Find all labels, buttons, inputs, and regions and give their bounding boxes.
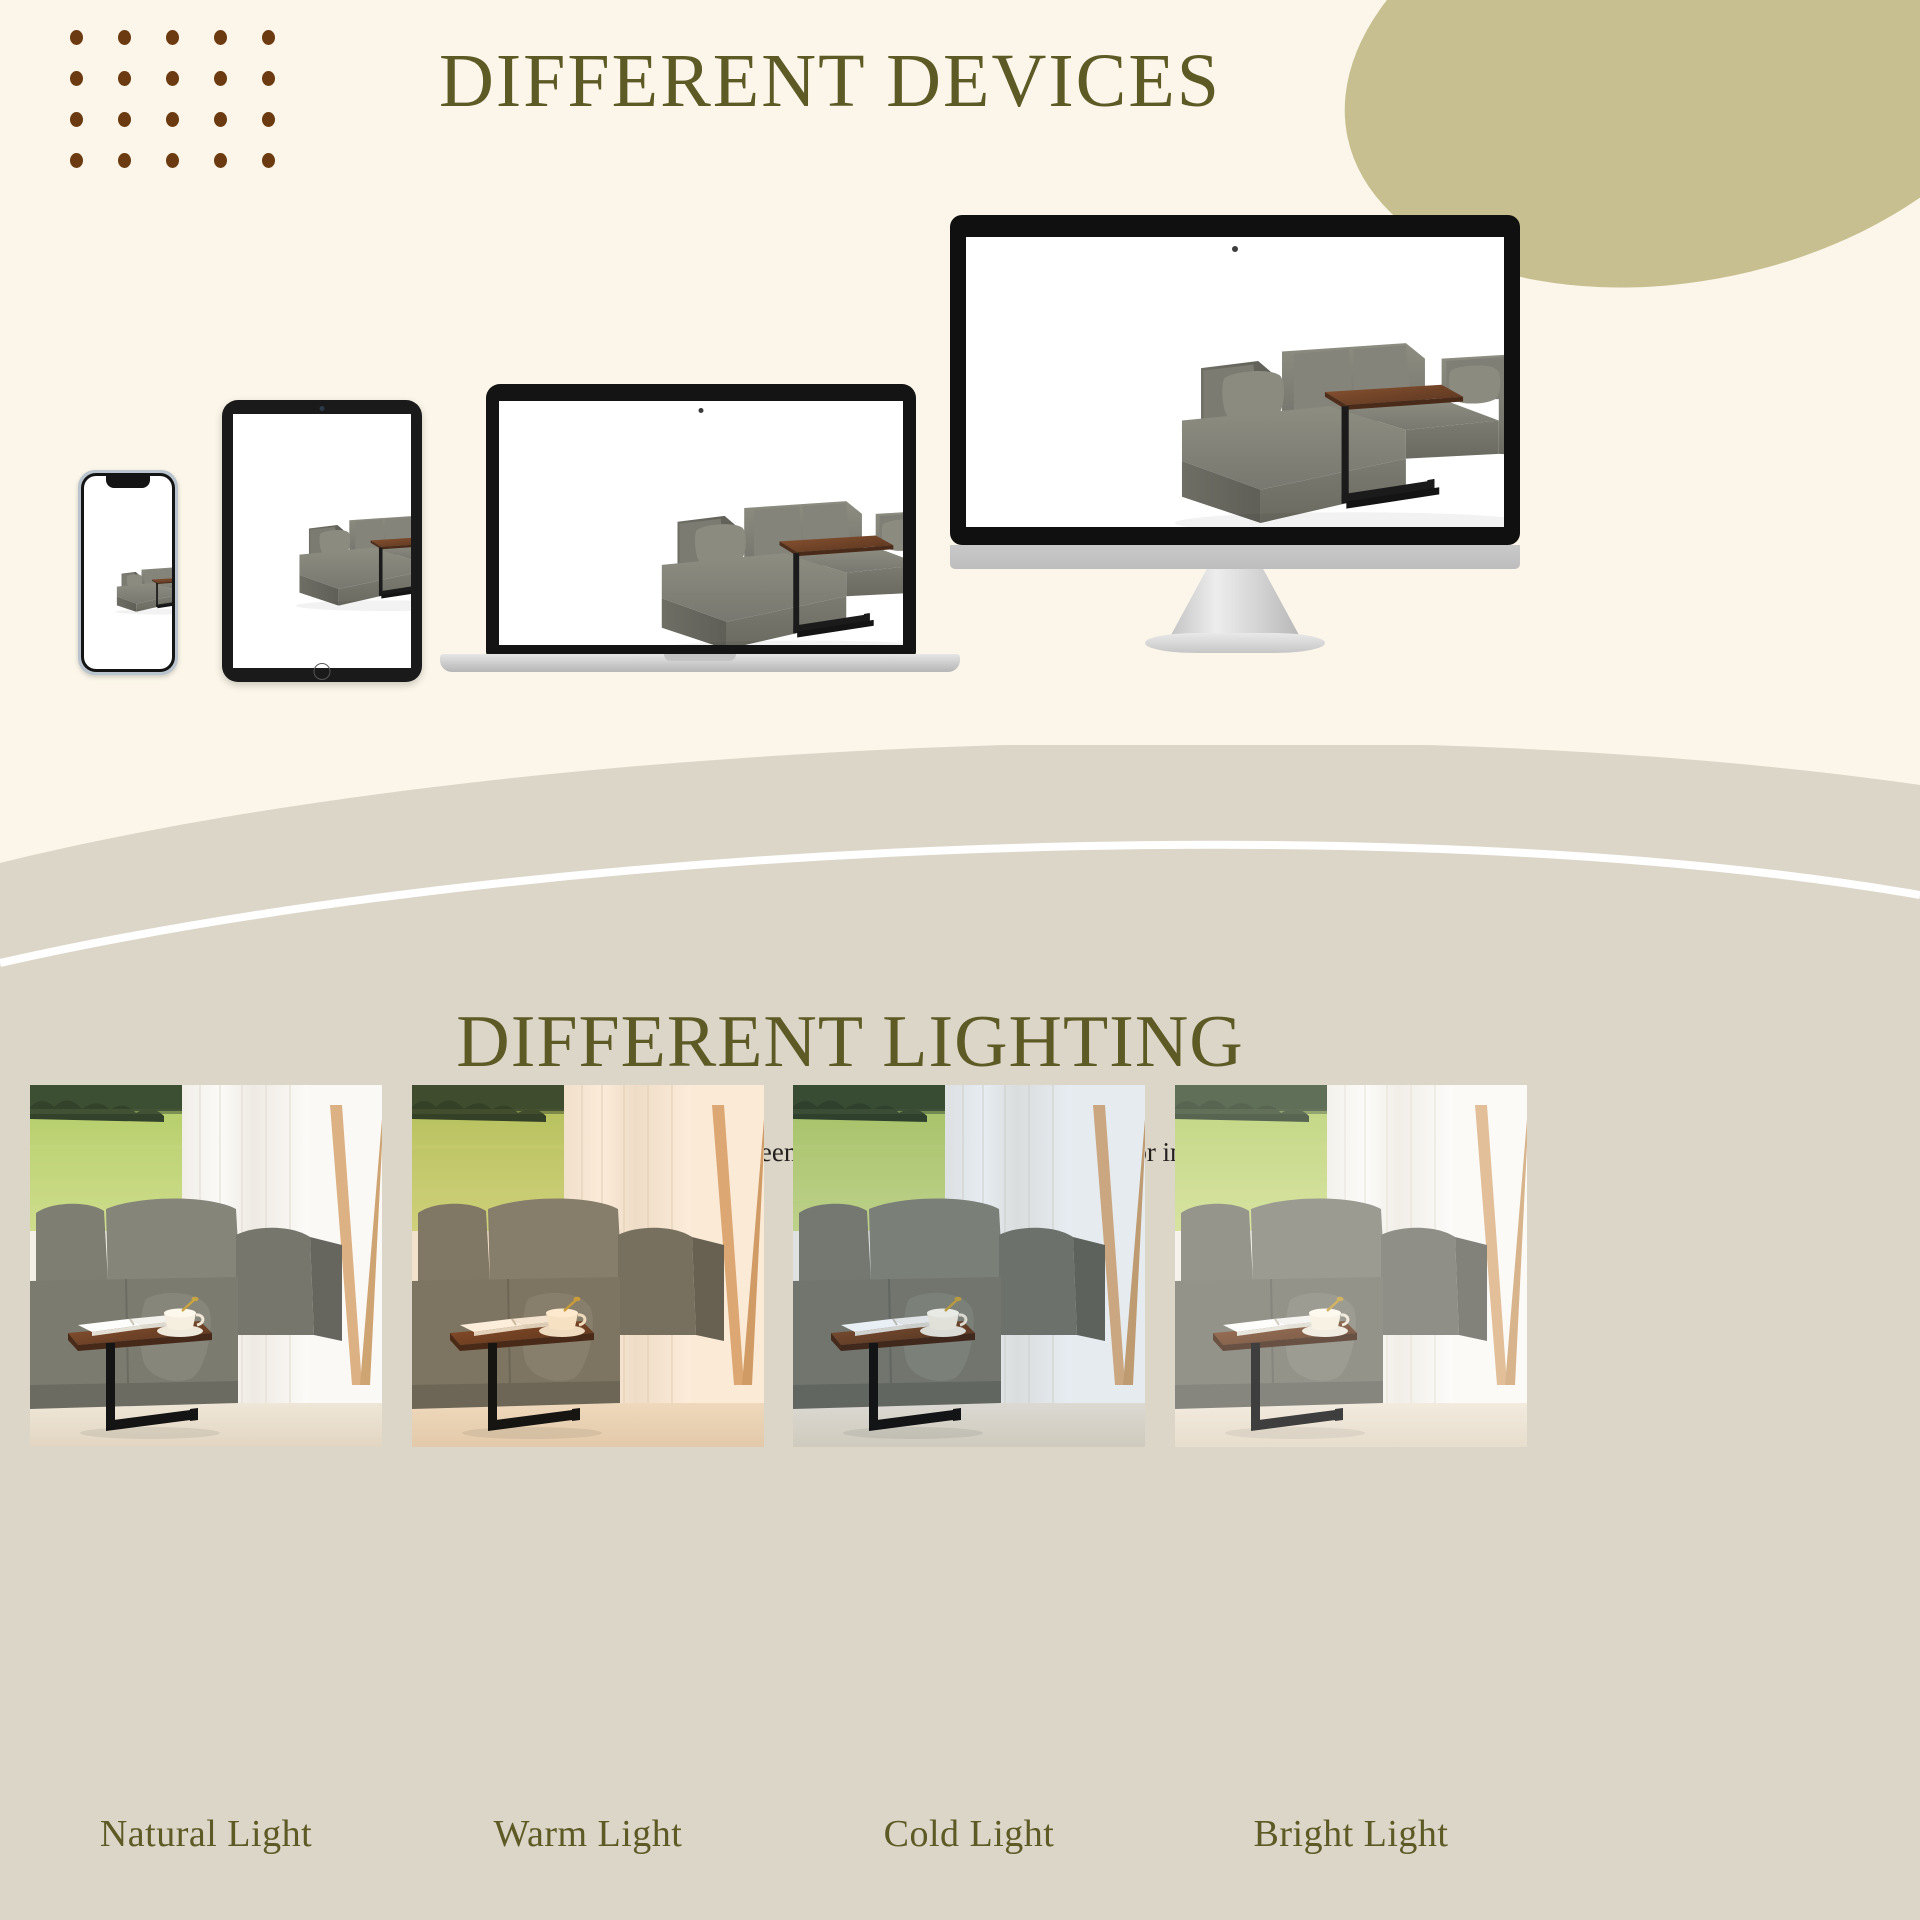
lifestyle-photo <box>793 1085 1145 1447</box>
page-title-devices: DIFFERENT DEVICES <box>0 38 1790 125</box>
caption-cold-light: Cold Light <box>793 1812 1145 1856</box>
caption-warm-light: Warm Light <box>412 1812 764 1856</box>
product-image-tablet <box>233 414 411 668</box>
tablet-camera-icon <box>320 406 325 411</box>
phone-shell <box>81 473 175 672</box>
laptop-mockup <box>440 384 960 684</box>
laptop-screen <box>499 401 903 645</box>
lifestyle-photo <box>1175 1085 1527 1447</box>
infographic-page: DIFFERENT DEVICES <box>0 0 1920 1920</box>
monitor-neck <box>1171 569 1299 635</box>
lighting-photo-natural[interactable] <box>30 1085 382 1447</box>
lifestyle-photo <box>412 1085 764 1447</box>
lighting-caption-row: Natural Light Warm Light Cold Light Brig… <box>0 1812 1920 1872</box>
laptop-trackpad-notch <box>664 654 736 661</box>
caption-bright-light: Bright Light <box>1175 1812 1527 1856</box>
monitor-bezel <box>950 215 1520 545</box>
product-image-phone <box>84 476 172 669</box>
lighting-photo-warm[interactable] <box>412 1085 764 1447</box>
monitor-chin <box>950 545 1520 569</box>
phone-notch-icon <box>106 476 150 488</box>
caption-natural-light: Natural Light <box>30 1812 382 1856</box>
monitor-foot <box>1145 633 1325 653</box>
tablet-screen <box>233 414 411 668</box>
lighting-photo-bright[interactable] <box>1175 1085 1527 1447</box>
laptop-lid <box>486 384 916 656</box>
tablet-mockup <box>222 400 422 682</box>
lighting-photo-cold[interactable] <box>793 1085 1145 1447</box>
product-image-laptop <box>499 401 903 645</box>
product-image-monitor <box>966 237 1504 527</box>
lighting-photo-row <box>0 1085 1920 1525</box>
page-title-lighting: DIFFERENT LIGHTING <box>0 1000 1810 1085</box>
phone-screen <box>84 476 172 669</box>
lifestyle-photo <box>30 1085 382 1447</box>
desktop-monitor-mockup <box>950 215 1520 690</box>
smartphone-mockup <box>78 470 178 675</box>
different-devices-section: DIFFERENT DEVICES <box>0 0 1920 940</box>
monitor-screen <box>966 237 1504 527</box>
tablet-home-button[interactable] <box>314 663 331 680</box>
